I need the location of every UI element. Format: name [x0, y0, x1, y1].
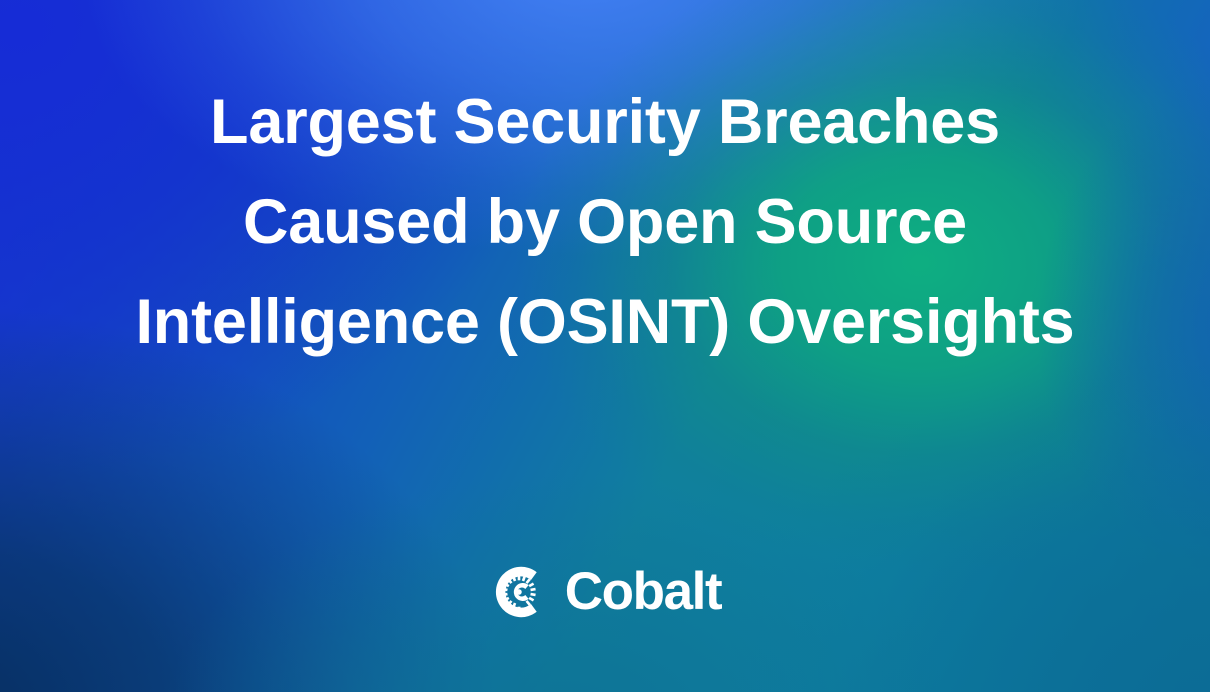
title-slide: Largest Security Breaches Caused by Open… — [0, 0, 1210, 692]
page-title: Largest Security Breaches Caused by Open… — [0, 72, 1210, 372]
cobalt-logo-lockup: Cobalt — [0, 562, 1210, 622]
headline-line-2: Caused by Open Source — [34, 172, 1176, 272]
cobalt-wordmark: Cobalt — [565, 564, 721, 620]
headline-line-1: Largest Security Breaches — [34, 72, 1176, 172]
headline-line-3: Intelligence (OSINT) Oversights — [34, 272, 1176, 372]
cobalt-gear-c-icon — [489, 562, 549, 622]
